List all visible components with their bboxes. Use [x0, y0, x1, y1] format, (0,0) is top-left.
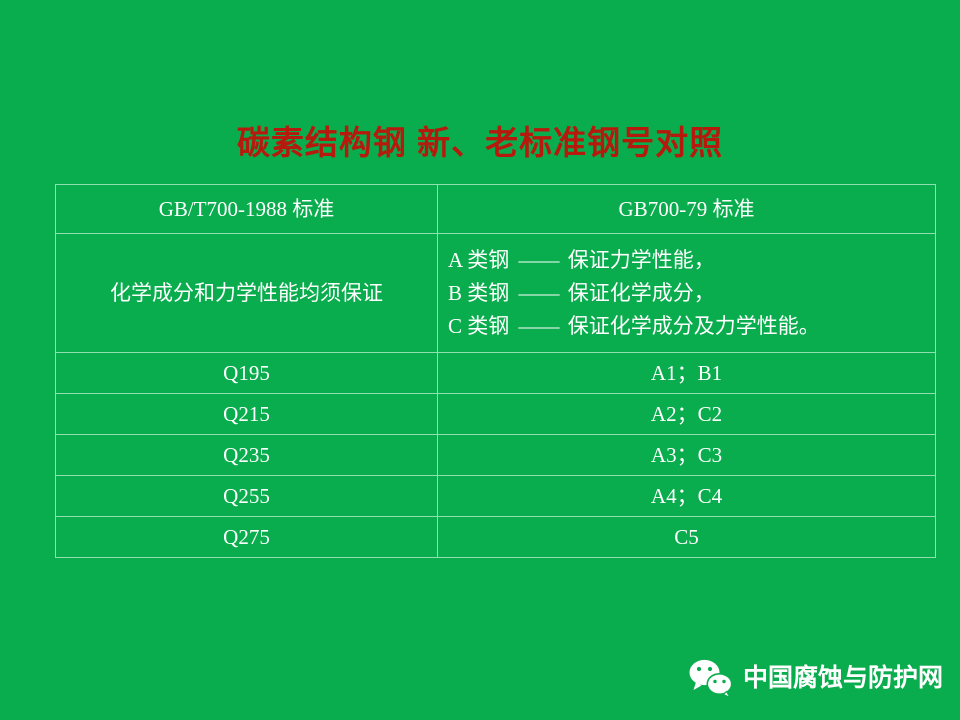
wechat-icon: [688, 658, 734, 698]
table-row-requirements: 化学成分和力学性能均须保证 A 类钢 —— 保证力学性能， B 类钢 —— 保证…: [56, 234, 936, 353]
watermark: 中国腐蚀与防护网: [688, 655, 943, 701]
old-grade-value: C5: [438, 517, 936, 558]
column-header-new-standard: GB/T700-1988 标准: [56, 185, 438, 234]
new-grade-value: Q195: [56, 353, 438, 394]
rule-line-b: B 类钢 —— 保证化学成分，: [448, 277, 925, 310]
table-header-row: GB/T700-1988 标准 GB700-79 标准: [56, 185, 936, 234]
table-row: Q235 A3；C3: [56, 435, 936, 476]
rule-line-c: C 类钢 —— 保证化学成分及力学性能。: [448, 310, 925, 343]
slide-canvas: 碳素结构钢 新、老标准钢号对照 GB/T700-1988 标准 GB700-79…: [0, 0, 960, 720]
new-grade-value: Q275: [56, 517, 438, 558]
table-row: Q215 A2；C2: [56, 394, 936, 435]
rule-c-label: 类钢: [467, 314, 509, 338]
rule-a-dash: ——: [515, 248, 563, 272]
old-grade-value: A3；C3: [438, 435, 936, 476]
new-grade-value: Q215: [56, 394, 438, 435]
new-grade-value: Q235: [56, 435, 438, 476]
rule-b-grade: B: [448, 281, 462, 305]
page-title: 碳素结构钢 新、老标准钢号对照: [0, 122, 960, 164]
table-row: Q275 C5: [56, 517, 936, 558]
watermark-label: 中国腐蚀与防护网: [743, 663, 943, 693]
rule-b-label: 类钢: [467, 281, 509, 305]
rule-a-grade: A: [448, 248, 462, 272]
rule-line-a: A 类钢 —— 保证力学性能，: [448, 244, 925, 277]
table-row: Q195 A1；B1: [56, 353, 936, 394]
old-grade-value: A2；C2: [438, 394, 936, 435]
requirement-old-standard: A 类钢 —— 保证力学性能， B 类钢 —— 保证化学成分， C 类钢: [438, 234, 936, 353]
table-row: Q255 A4；C4: [56, 476, 936, 517]
rule-c-dash: ——: [515, 314, 563, 338]
old-grade-value: A4；C4: [438, 476, 936, 517]
rule-c-desc: 保证化学成分及力学性能。: [568, 314, 820, 338]
rule-b-dash: ——: [515, 281, 563, 305]
rule-a-label: 类钢: [467, 248, 509, 272]
old-grade-value: A1；B1: [438, 353, 936, 394]
rule-b-desc: 保证化学成分，: [568, 281, 715, 305]
standards-comparison-table: GB/T700-1988 标准 GB700-79 标准 化学成分和力学性能均须保…: [55, 184, 936, 558]
rule-c-grade: C: [448, 314, 462, 338]
requirement-new-standard: 化学成分和力学性能均须保证: [56, 234, 438, 353]
column-header-old-standard: GB700-79 标准: [438, 185, 936, 234]
new-grade-value: Q255: [56, 476, 438, 517]
rule-a-desc: 保证力学性能，: [568, 248, 715, 272]
